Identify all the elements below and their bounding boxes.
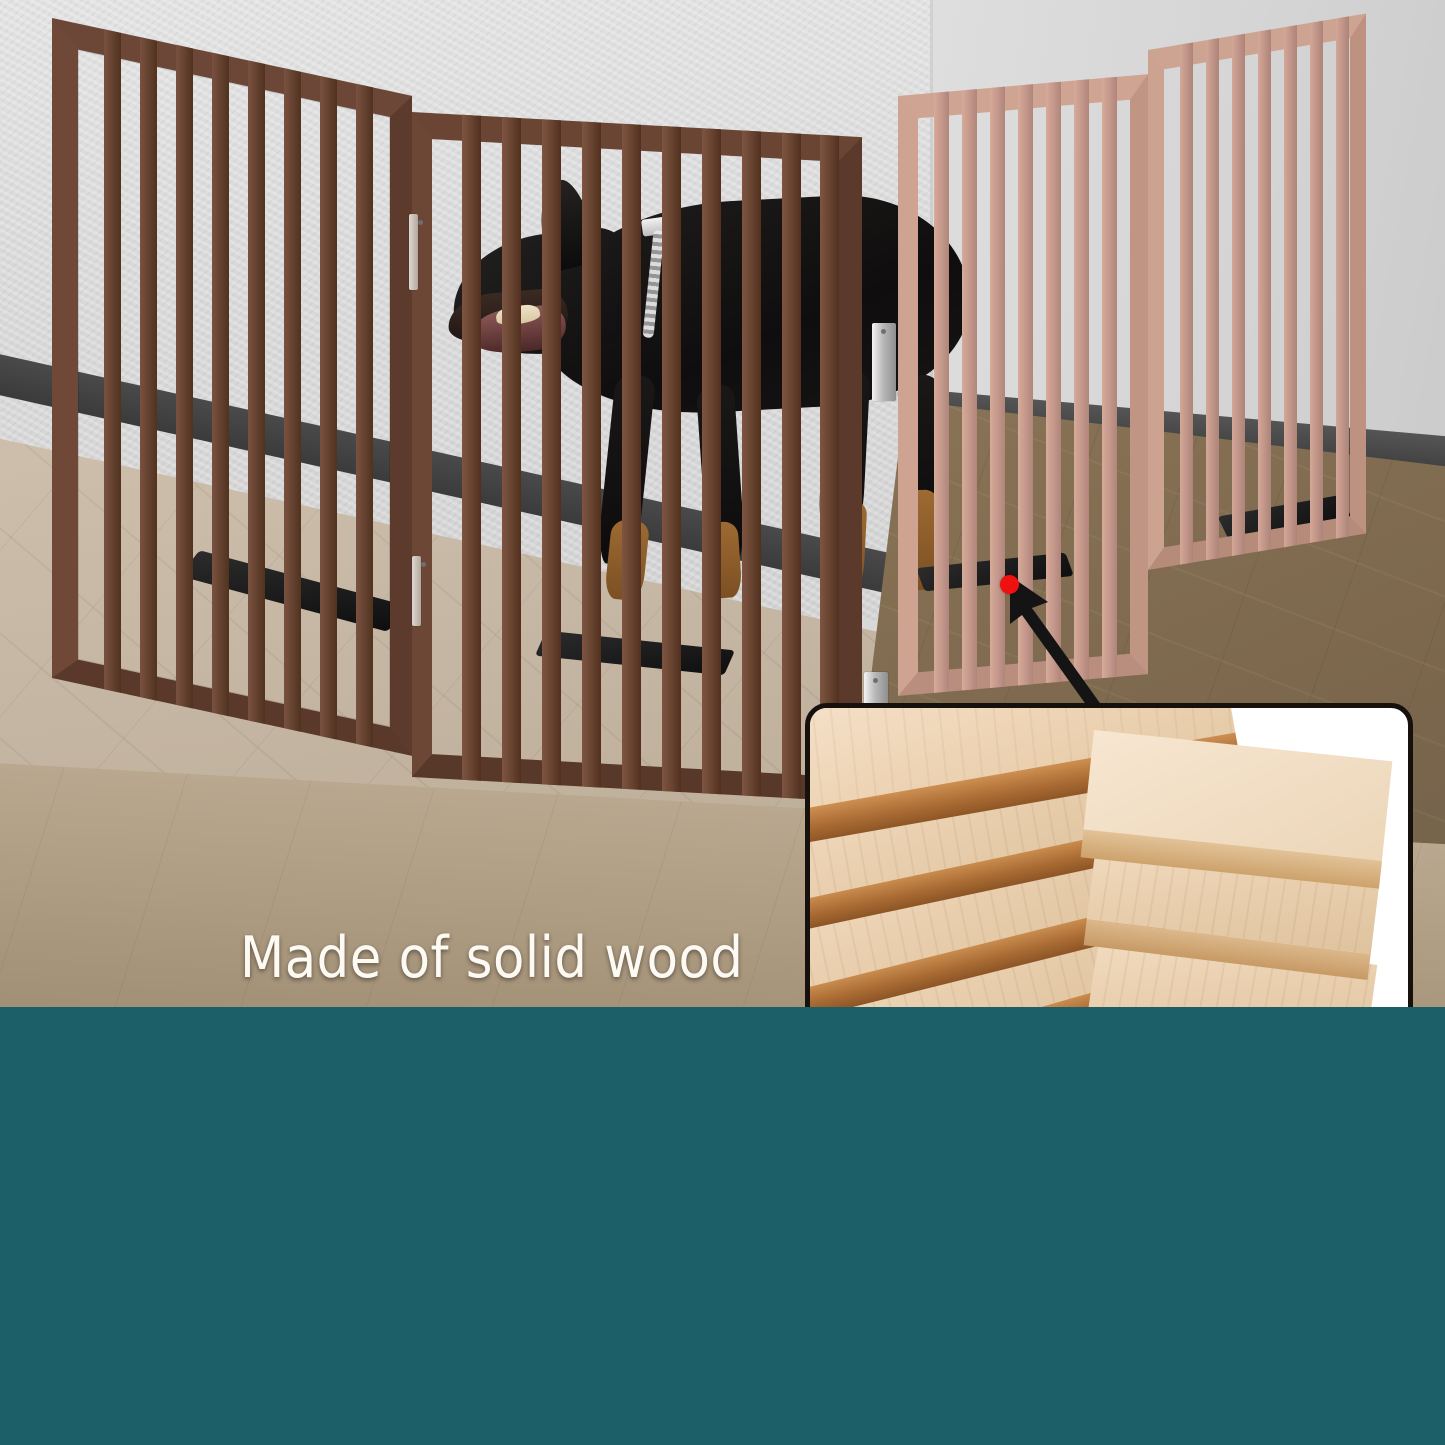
panel-slat <box>212 53 229 717</box>
panel-slat <box>176 45 193 709</box>
gate-hinge <box>412 556 421 626</box>
gate-hinge <box>872 323 896 401</box>
gate-panel-2 <box>412 112 862 802</box>
panel-slat <box>782 133 801 799</box>
panel-slat <box>934 92 949 693</box>
panel-slat <box>1232 34 1245 556</box>
product-marketing-image: Made of solid wood <box>0 0 1445 1445</box>
gate-panel-4 <box>1148 14 1366 570</box>
panel-slat <box>1180 42 1193 564</box>
panel-slat <box>284 68 301 732</box>
panel-slat <box>702 128 721 794</box>
panel-slat <box>248 60 265 724</box>
panel-slat <box>622 124 641 790</box>
gate-hinge <box>409 214 418 290</box>
panel-slat <box>1206 38 1219 560</box>
panel-slat <box>542 119 561 785</box>
panel-slat <box>356 84 373 748</box>
panel-slat <box>1336 16 1349 538</box>
gate-panel-1 <box>52 18 412 756</box>
panel-slat <box>320 76 337 740</box>
panel-slat <box>462 115 481 781</box>
panel-slat <box>820 135 839 801</box>
panel-slat <box>742 130 761 796</box>
panel-slat <box>1258 29 1271 551</box>
panel-slat <box>140 37 157 701</box>
panel-slat <box>104 29 121 693</box>
panel-slat <box>1284 25 1297 547</box>
panel-slat <box>582 122 601 788</box>
panel-slat <box>962 89 977 690</box>
wood-board-top-right <box>1084 730 1393 861</box>
features-banner: 1. Limit your pet from running around 2.… <box>0 1007 1445 1445</box>
panel-slat <box>502 117 521 783</box>
panel-slat <box>1310 21 1323 543</box>
panel-slat <box>662 126 681 792</box>
caption-made-of-solid-wood: Made of solid wood <box>240 925 743 991</box>
callout-red-dot <box>1000 575 1019 594</box>
